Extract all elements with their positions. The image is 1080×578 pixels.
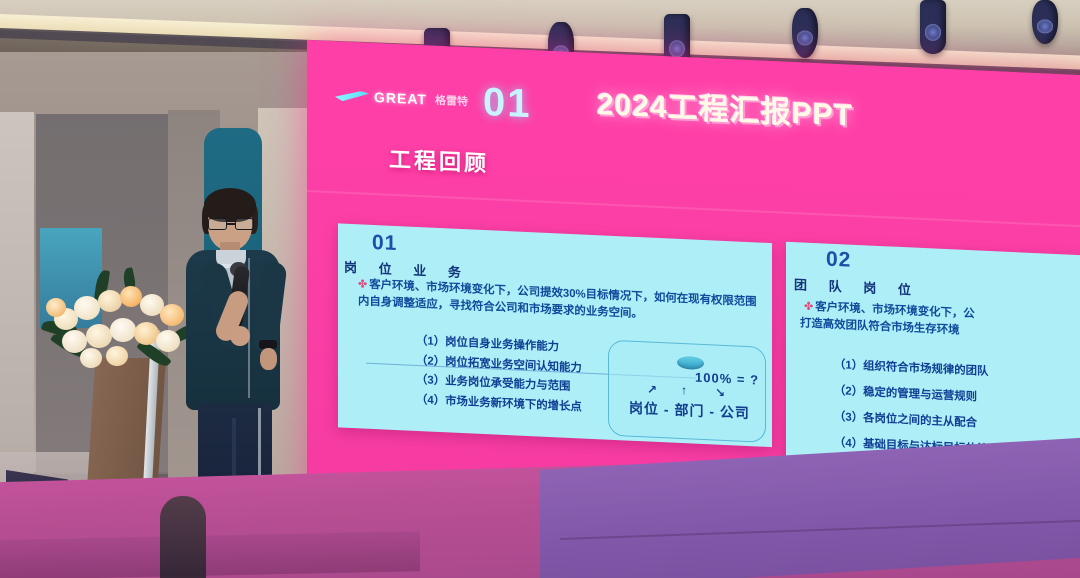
stage-floor-front	[0, 531, 420, 578]
diagram-arrow-1: ↗	[647, 382, 657, 396]
audience-head	[160, 496, 206, 578]
panel-01-number: 01	[372, 231, 397, 256]
light-lens-icon	[925, 24, 941, 40]
conference-stage-photo: GREAT 格雷特 01 2024工程汇报PPT 工程回顾 01 岗 位 业 务…	[0, 0, 1080, 578]
glasses-bridge	[227, 223, 235, 225]
brand-logo: GREAT 格雷特	[335, 87, 468, 109]
section-number: 01	[483, 80, 532, 127]
flower-icon	[98, 290, 122, 312]
bullet-marker-icon: ✤	[804, 301, 813, 313]
glasses-lens-right	[235, 218, 254, 230]
panel-02-body-line2: 打造高效团队符合市场生存环境	[800, 315, 1080, 346]
diagram-chain-label: 岗位 - 部门 - 公司	[629, 398, 750, 423]
slide-panel-01: 01 岗 位 业 务 ✤客户环境、市场环境变化下，公司提效30%目标情况下，如何…	[338, 223, 772, 447]
section-title: 工程回顾	[389, 142, 489, 179]
presenter-right-hand	[260, 348, 277, 370]
bullet-marker-icon: ✤	[358, 278, 367, 290]
light-lens-icon	[669, 40, 685, 57]
glasses-icon	[208, 218, 254, 230]
flower-icon	[86, 324, 112, 348]
deck-title: 2024工程汇报PPT	[597, 79, 853, 135]
panel-02-number: 02	[826, 248, 851, 273]
light-lens-icon	[1037, 20, 1053, 33]
stage-light-5	[920, 0, 946, 54]
panel-02-body: ✤客户环境、市场环境变化下，公 打造高效团队符合市场生存环境	[804, 299, 1080, 347]
panel-01-body-text: 客户环境、市场环境变化下，公司提效30%目标情况下，如何在现有权限范围内自身调整…	[358, 279, 757, 320]
presenter-hair	[204, 188, 256, 222]
diagram-arrow-2: ↑	[681, 383, 687, 397]
flower-icon	[46, 298, 66, 317]
panel-01-item-list: （1）岗位自身业务操作能力 （2）岗位拓宽业务空间认知能力 （3）业务岗位承受能…	[416, 332, 582, 418]
flower-icon	[110, 318, 136, 342]
light-lens-icon	[797, 31, 813, 46]
panel-01-body: ✤客户环境、市场环境变化下，公司提效30%目标情况下，如何在现有权限范围内自身调…	[358, 276, 762, 328]
swoosh-icon	[335, 90, 369, 103]
panel-01-diagram: 100% = ? ↗ ↑ ↘ 岗位 - 部门 - 公司	[608, 340, 766, 443]
panel-02-heading: 团 队 岗 位	[794, 274, 920, 299]
flower-icon	[80, 348, 102, 368]
stage-light-4	[792, 8, 818, 58]
diagram-arrow-3: ↘	[715, 386, 725, 400]
flower-icon	[120, 286, 142, 307]
brand-logo-chinese: 格雷特	[435, 92, 468, 109]
diagram-percent-label: 100% = ?	[695, 370, 759, 388]
ellipse-icon	[677, 356, 704, 370]
presenter-hand	[230, 326, 250, 346]
glasses-lens-left	[208, 218, 227, 230]
flower-icon	[106, 346, 128, 366]
brand-logo-text: GREAT	[374, 89, 427, 107]
flower-icon	[74, 296, 100, 320]
stage-light-6	[1032, 0, 1058, 44]
